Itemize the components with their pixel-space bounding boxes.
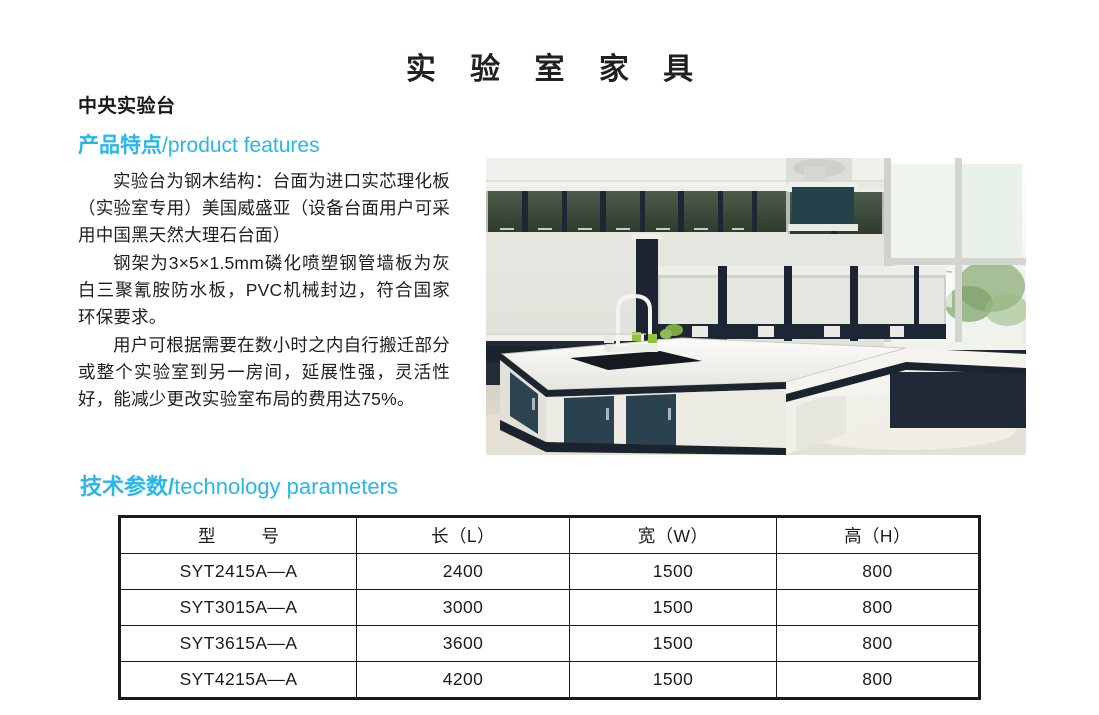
cell-length: 4200: [357, 662, 570, 699]
cell-width: 1500: [570, 590, 777, 626]
cell-length: 3600: [357, 626, 570, 662]
cell-model: SYT4215A—A: [120, 662, 357, 699]
page-title: 实 验 室 家 具: [0, 53, 1099, 86]
cell-height: 800: [777, 626, 980, 662]
table-row: SYT3615A—A 3600 1500 800: [120, 626, 980, 662]
cell-height: 800: [777, 554, 980, 590]
tech-heading-cn: 技术参数: [80, 474, 168, 499]
product-subtitle: 中央实验台: [78, 96, 468, 119]
cell-model: SYT2415A—A: [120, 554, 357, 590]
column-header-model-char1: 型: [198, 526, 216, 546]
cell-width: 1500: [570, 626, 777, 662]
feature-paragraph-3: 用户可根据需要在数小时之内自行搬迁部分或整个实验室到另一房间，延展性强，灵活性好…: [78, 332, 450, 413]
cell-height: 800: [777, 590, 980, 626]
table-row: SYT2415A—A 2400 1500 800: [120, 554, 980, 590]
cell-width: 1500: [570, 662, 777, 699]
table-row: SYT3015A—A 3000 1500 800: [120, 590, 980, 626]
lab-photo-illustration: [486, 158, 1026, 455]
spec-table-container: 型号 长（L） 宽（W） 高（H） SYT2415A—A 2400 1500 8…: [118, 515, 978, 700]
cell-height: 800: [777, 662, 980, 699]
column-header-model-char2: 号: [262, 526, 280, 546]
specification-table: 型号 长（L） 宽（W） 高（H） SYT2415A—A 2400 1500 8…: [118, 515, 981, 700]
features-heading-en: product features: [168, 134, 320, 157]
cell-width: 1500: [570, 554, 777, 590]
cell-model: SYT3015A—A: [120, 590, 357, 626]
table-header-row: 型号 长（L） 宽（W） 高（H）: [120, 517, 980, 554]
section-heading-technology-parameters: 技术参数/technology parameters: [80, 474, 398, 500]
feature-paragraph-2: 钢架为3×5×1.5mm磷化喷塑钢管墙板为灰白三聚氰胺防水板，PVC机械封边，符…: [78, 250, 450, 331]
catalog-page: 实 验 室 家 具 中央实验台 产品特点/product features 实验…: [0, 0, 1099, 715]
table-row: SYT4215A—A 4200 1500 800: [120, 662, 980, 699]
cell-model: SYT3615A—A: [120, 626, 357, 662]
left-content-column: 中央实验台 产品特点/product features 实验台为钢木结构：台面为…: [78, 96, 468, 414]
tech-heading-en: technology parameters: [174, 474, 398, 499]
cell-length: 3000: [357, 590, 570, 626]
feature-paragraph-1: 实验台为钢木结构：台面为进口实芯理化板（实验室专用）美国威盛亚（设备台面用户可采…: [78, 168, 450, 249]
lab-bench-photo: [486, 158, 1026, 455]
column-header-width: 宽（W）: [570, 517, 777, 554]
cell-length: 2400: [357, 554, 570, 590]
column-header-length: 长（L）: [357, 517, 570, 554]
column-header-model: 型号: [120, 517, 357, 554]
features-heading-cn: 产品特点: [78, 134, 162, 157]
column-header-height: 高（H）: [777, 517, 980, 554]
section-heading-product-features: 产品特点/product features: [78, 133, 468, 158]
